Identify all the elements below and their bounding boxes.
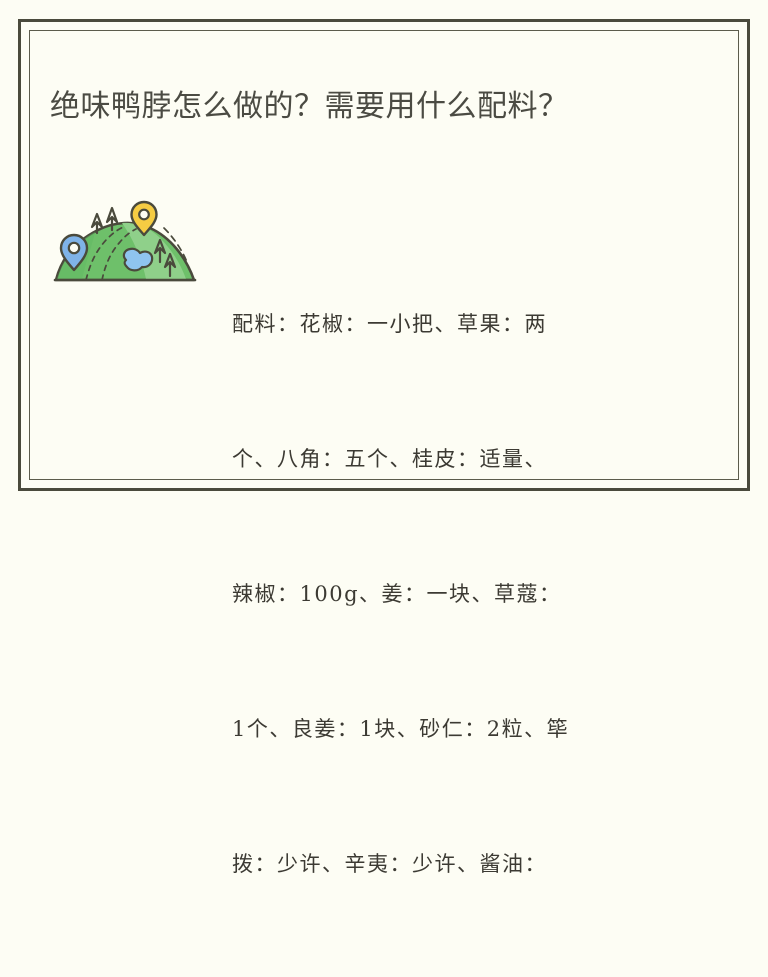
ingredients-line: 配料：花椒：一小把、草果：两	[232, 302, 662, 347]
ingredients-text: 配料：花椒：一小把、草果：两 个、八角：五个、桂皮：适量、 辣椒：100g、姜：…	[232, 212, 662, 977]
map-terrain-illustration	[52, 200, 198, 286]
ingredients-line: 个、八角：五个、桂皮：适量、	[232, 437, 662, 482]
article-card: 绝味鸭脖怎么做的？需要用什么配料？	[0, 0, 768, 510]
card-content: 绝味鸭脖怎么做的？需要用什么配料？	[0, 0, 768, 510]
ingredients-line: 拨：少许、辛夷：少许、酱油：	[232, 842, 662, 887]
ingredients-line: 辣椒：100g、姜：一块、草蔻：	[232, 572, 662, 617]
page-title: 绝味鸭脖怎么做的？需要用什么配料？	[50, 80, 690, 133]
ingredients-line: 1个、良姜：1块、砂仁：2粒、筚	[232, 707, 662, 752]
